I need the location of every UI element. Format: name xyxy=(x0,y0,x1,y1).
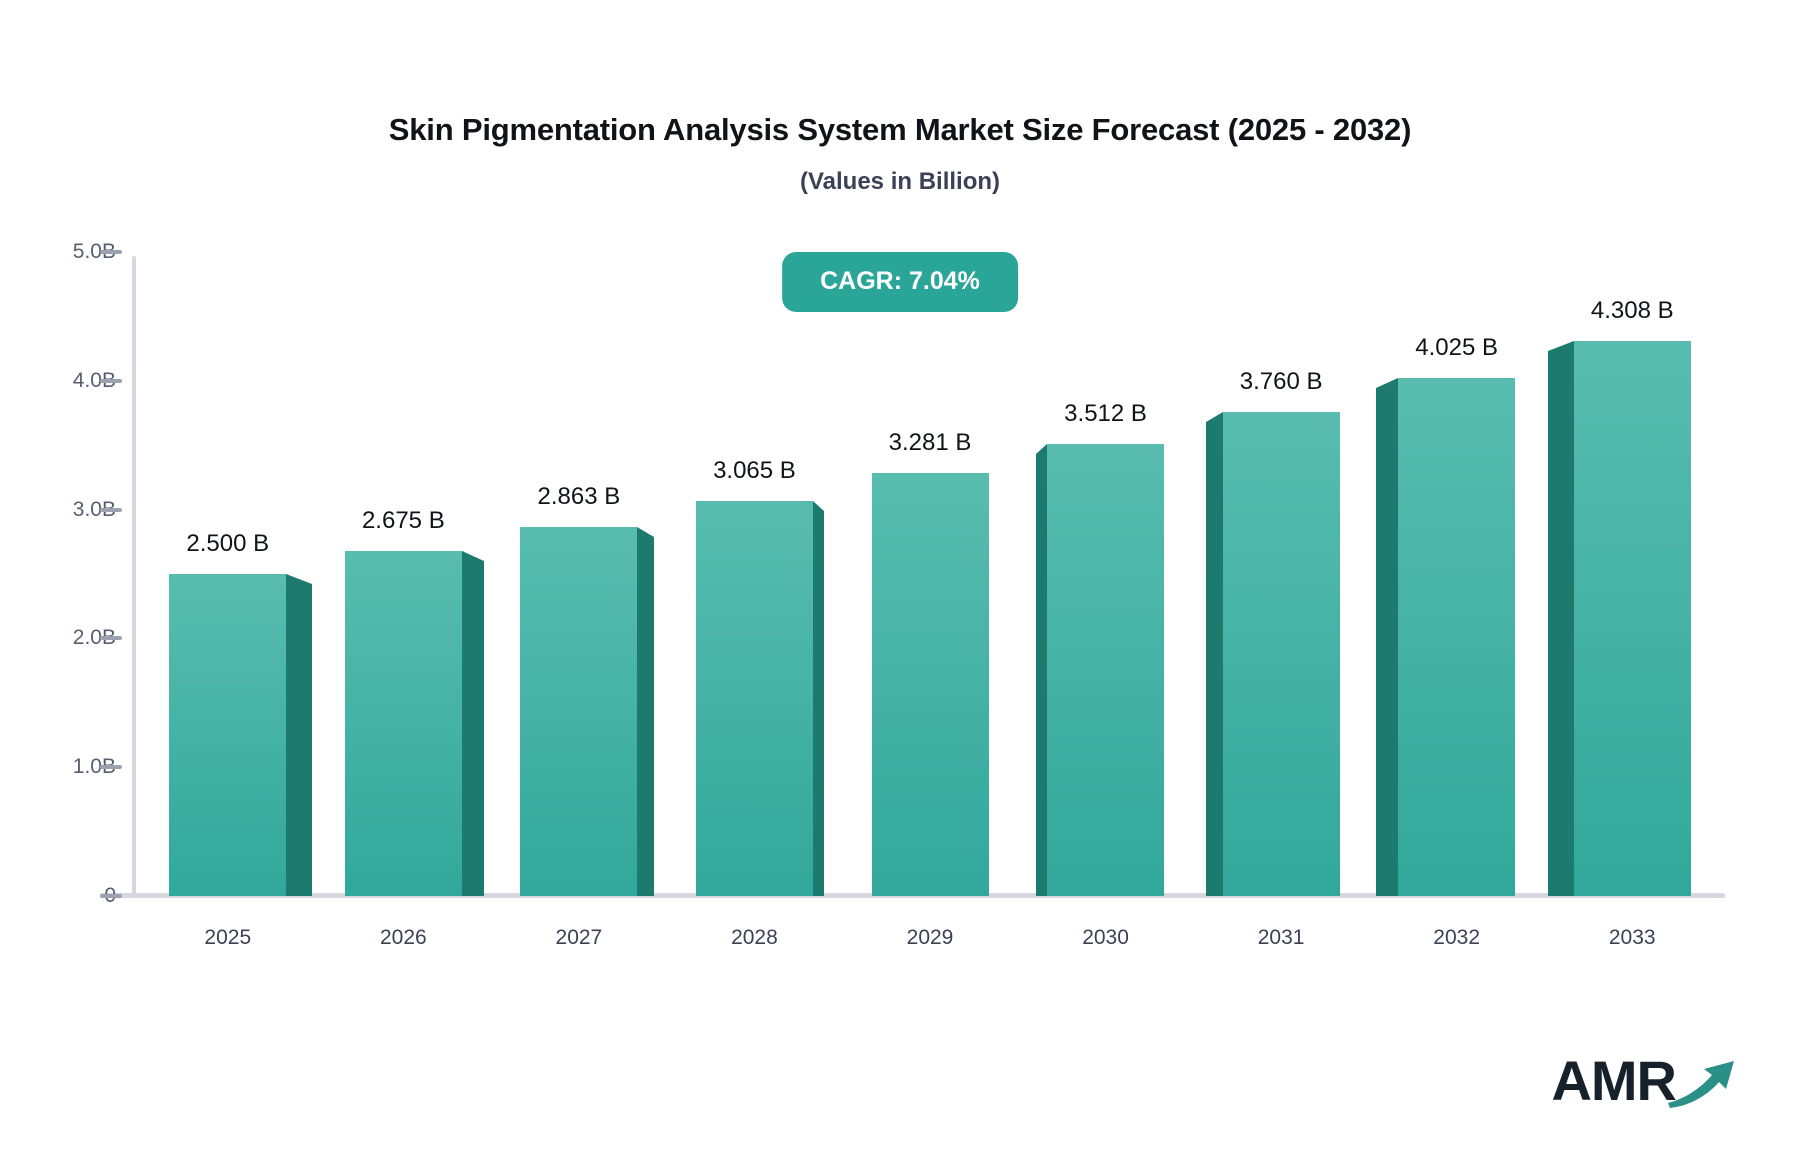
x-axis-tick-label: 2026 xyxy=(380,926,427,950)
bar-value-label: 3.281 B xyxy=(889,429,972,457)
chart-container: Skin Pigmentation Analysis System Market… xyxy=(0,0,1800,1156)
bar-column[interactable]: 3.065 B xyxy=(696,252,813,896)
bar-column[interactable]: 2.675 B xyxy=(345,252,462,896)
bar-value-label: 2.500 B xyxy=(186,530,269,558)
x-axis-tick-label: 2032 xyxy=(1433,926,1480,950)
bar[interactable] xyxy=(520,252,637,896)
x-axis-tick-label: 2031 xyxy=(1258,926,1305,950)
bar-top-bevel xyxy=(286,574,312,584)
bar-column[interactable]: 2.500 B xyxy=(169,252,286,896)
y-axis-tick-label: 2.0B xyxy=(0,626,116,650)
bar-side-face xyxy=(1036,454,1048,896)
y-axis-tick-mark xyxy=(100,250,122,254)
y-axis-line xyxy=(132,256,136,898)
bar[interactable] xyxy=(345,252,462,896)
y-axis-tick-label: 4.0B xyxy=(0,369,116,393)
y-axis-tick-mark xyxy=(100,894,122,898)
x-axis-tick-label: 2029 xyxy=(907,926,954,950)
bar-top-bevel xyxy=(1548,341,1574,351)
x-axis-tick-label: 2033 xyxy=(1609,926,1656,950)
bar-top-bevel xyxy=(813,501,824,511)
bar-front-face xyxy=(872,473,989,896)
y-axis-tick-mark xyxy=(100,508,122,512)
x-axis-tick-label: 2027 xyxy=(556,926,603,950)
bars-layer: 2.500 B2.675 B2.863 B3.065 B3.281 B3.512… xyxy=(140,252,1720,896)
bar[interactable] xyxy=(1223,252,1340,896)
y-axis-tick-label: 1.0B xyxy=(0,755,116,779)
bar-value-label: 3.760 B xyxy=(1240,368,1323,396)
bar-column[interactable]: 3.760 B xyxy=(1223,252,1340,896)
bar-value-label: 3.065 B xyxy=(713,457,796,485)
bar-front-face xyxy=(169,574,286,896)
bar-value-label: 3.512 B xyxy=(1064,400,1147,428)
bar-side-face xyxy=(1548,351,1574,896)
amr-logo-text: AMR xyxy=(1551,1053,1676,1109)
bar-side-face xyxy=(1206,422,1223,896)
bar-front-face xyxy=(1574,341,1691,896)
bar-side-face xyxy=(813,511,825,896)
bar-front-face xyxy=(345,551,462,896)
bar-top-bevel xyxy=(637,527,654,537)
y-axis-tick-label: 0 xyxy=(0,884,116,908)
bar-column[interactable]: 3.512 B xyxy=(1047,252,1164,896)
bar-top-bevel xyxy=(1206,412,1223,422)
bar-front-face xyxy=(1047,444,1164,896)
bar-side-face xyxy=(286,584,312,896)
bar[interactable] xyxy=(872,252,989,896)
amr-logo: AMR xyxy=(1551,1047,1738,1114)
bar-front-face xyxy=(696,501,813,896)
bar-value-label: 2.863 B xyxy=(538,483,621,511)
bar-side-face xyxy=(637,537,654,896)
bar-value-label: 4.025 B xyxy=(1415,334,1498,362)
bar-column[interactable]: 3.281 B xyxy=(872,252,989,896)
bar-front-face xyxy=(1223,412,1340,896)
bar[interactable] xyxy=(1047,252,1164,896)
chart-title: Skin Pigmentation Analysis System Market… xyxy=(0,112,1800,148)
x-axis-tick-label: 2028 xyxy=(731,926,778,950)
bar-column[interactable]: 4.025 B xyxy=(1398,252,1515,896)
bar[interactable] xyxy=(169,252,286,896)
bar-top-bevel xyxy=(1376,378,1398,388)
bar-top-bevel xyxy=(1036,444,1047,454)
bar-column[interactable]: 2.863 B xyxy=(520,252,637,896)
y-axis-tick-mark xyxy=(100,636,122,640)
bar-top-bevel xyxy=(462,551,484,561)
bar-side-face xyxy=(462,561,485,896)
bar[interactable] xyxy=(1574,252,1691,896)
bar-column[interactable]: 4.308 B xyxy=(1574,252,1691,896)
y-axis-tick-label: 3.0B xyxy=(0,498,116,522)
bar-value-label: 2.675 B xyxy=(362,507,445,535)
y-axis-tick-label: 5.0B xyxy=(0,240,116,264)
y-axis-tick-mark xyxy=(100,765,122,769)
bar-value-label: 4.308 B xyxy=(1591,297,1674,325)
chart-subtitle: (Values in Billion) xyxy=(0,168,1800,196)
bar-front-face xyxy=(520,527,637,896)
bar-front-face xyxy=(1398,378,1515,896)
bar[interactable] xyxy=(696,252,813,896)
y-axis-tick-mark xyxy=(100,379,122,383)
growth-arrow-icon xyxy=(1666,1055,1738,1114)
bar-side-face xyxy=(1376,388,1399,896)
x-axis-tick-label: 2030 xyxy=(1082,926,1129,950)
x-axis-tick-label: 2025 xyxy=(204,926,251,950)
